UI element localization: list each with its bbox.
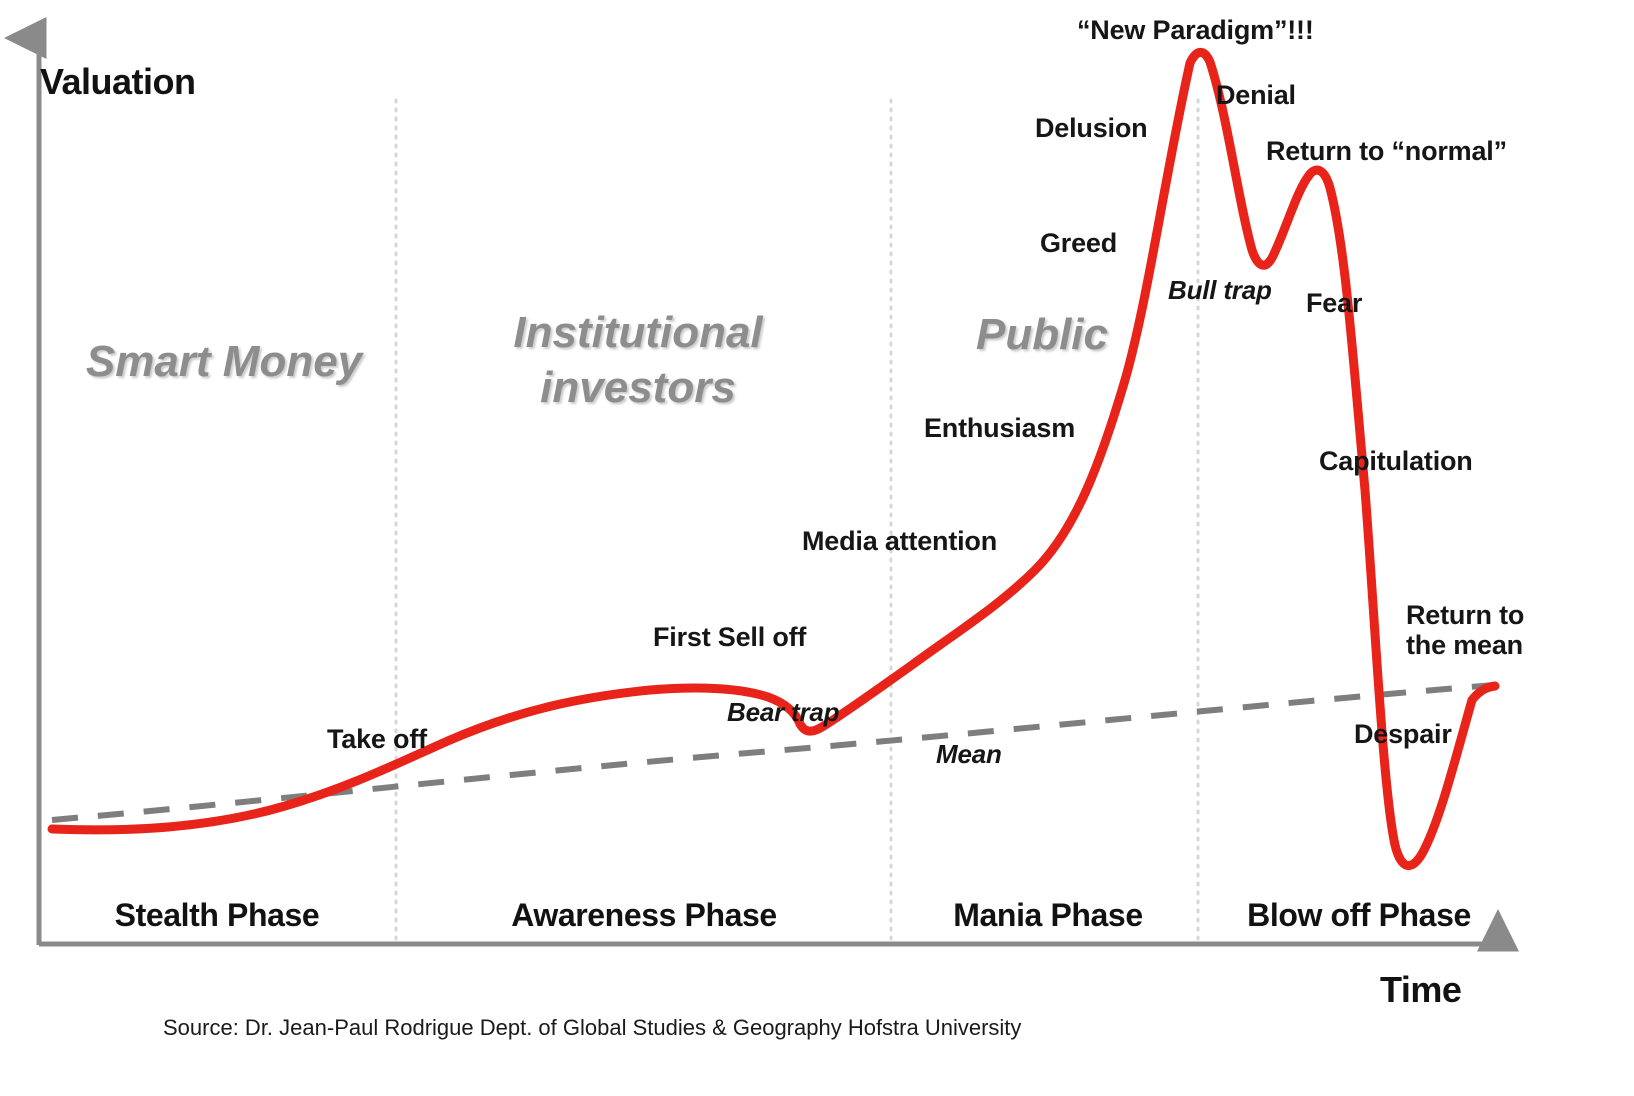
source-attribution: Source: Dr. Jean-Paul Rodrigue Dept. of …	[163, 1016, 1021, 1041]
annotation-return-to-the-mean-line2: the mean	[1406, 630, 1523, 660]
annotation-return-to-the-mean: Return to the mean	[1406, 600, 1524, 660]
group-label-institutional-investors: Institutional investors	[498, 305, 778, 415]
phase-label-stealth: Stealth Phase	[115, 898, 320, 934]
group-label-institutional-line1: Institutional	[513, 308, 762, 357]
phase-label-mania: Mania Phase	[953, 898, 1142, 934]
phase-label-blow-off: Blow off Phase	[1247, 898, 1471, 934]
bubble-valuation-curve	[52, 52, 1495, 865]
annotation-greed: Greed	[1040, 228, 1117, 258]
annotation-take-off: Take off	[327, 724, 427, 754]
annotation-capitulation: Capitulation	[1319, 446, 1473, 476]
annotation-fear: Fear	[1306, 288, 1362, 318]
annotation-return-to-the-mean-line1: Return to	[1406, 600, 1524, 630]
annotation-bull-trap: Bull trap	[1168, 276, 1272, 305]
group-label-institutional-line2: investors	[540, 363, 736, 412]
x-axis-title: Time	[1380, 970, 1461, 1010]
annotation-first-sell-off: First Sell off	[653, 622, 806, 652]
group-label-public: Public	[976, 310, 1108, 359]
annotation-new-paradigm: “New Paradigm”!!!	[1077, 15, 1314, 45]
annotation-return-to-normal: Return to “normal”	[1266, 136, 1507, 166]
group-label-smart-money: Smart Money	[86, 337, 362, 386]
phase-label-awareness: Awareness Phase	[511, 898, 777, 934]
annotation-despair: Despair	[1354, 719, 1452, 749]
phase-dividers	[396, 100, 1198, 940]
annotation-enthusiasm: Enthusiasm	[924, 413, 1075, 443]
annotation-bear-trap: Bear trap	[727, 698, 839, 727]
annotation-mean: Mean	[936, 740, 1002, 769]
bubble-chart: Valuation Time Smart Money Institutional…	[0, 0, 1634, 1096]
y-axis-title: Valuation	[40, 62, 196, 102]
annotation-denial: Denial	[1216, 80, 1296, 110]
annotation-delusion: Delusion	[1035, 113, 1147, 143]
annotation-media-attention: Media attention	[802, 526, 997, 556]
